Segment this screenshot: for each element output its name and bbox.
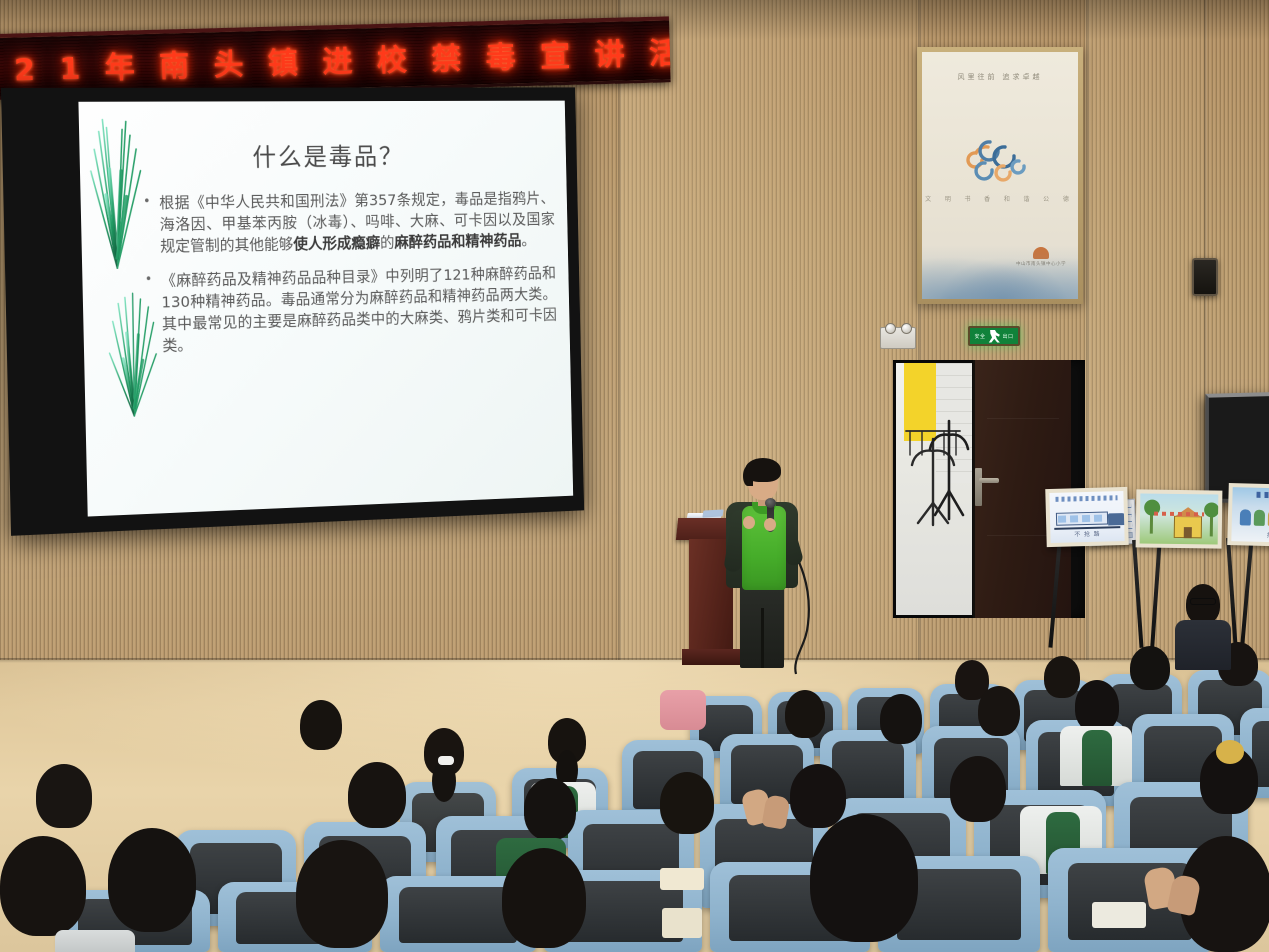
poster-surface: 风里往前 追求卓越 文 明 书 香 和 谐 公 德 中山市南头镇中心小: [922, 52, 1078, 299]
student-head-foreground: [108, 828, 196, 932]
framed-wall-poster: 风里往前 追求卓越 文 明 书 香 和 谐 公 德 中山市南头镇中心小: [917, 47, 1083, 304]
hair-tie: [1216, 740, 1244, 764]
student-head: [660, 772, 714, 834]
student-head-foreground: [502, 848, 586, 948]
slide-bullet-item: • 根据《中华人民共和国刑法》第357条规定，毒品是指鸦片、海洛因、甲基苯丙胺（…: [143, 188, 556, 258]
student-head: [300, 700, 342, 750]
artwork-window: [1082, 515, 1090, 522]
student-ponytail: [432, 760, 456, 802]
door-handle-icon[interactable]: [979, 478, 999, 483]
student-head: [785, 690, 825, 738]
teacher-torso: [1175, 620, 1231, 670]
presenter-hand-holding-mic: [764, 518, 776, 531]
bullet-text: 根据《中华人民共和国刑法》第357条规定，毒品是指鸦片、海洛因、甲基苯丙胺（冰毒…: [159, 188, 555, 257]
student-audience: [0, 600, 1269, 952]
bullet-segment-bold: 使人形成瘾癖: [293, 234, 380, 253]
student-head: [348, 762, 406, 828]
artwork-window: [1094, 515, 1102, 522]
artwork-title-strokes: [1256, 492, 1269, 499]
slide-bullet-list: • 根据《中华人民共和国刑法》第357条规定，毒品是指鸦片、海洛因、甲基苯丙胺（…: [143, 188, 558, 370]
student-head: [950, 756, 1006, 822]
student-head-foreground: [296, 840, 388, 948]
slide-surface: 什么是毒品？ • 根据《中华人民共和国刑法》第357条规定，毒品是指鸦片、海洛因…: [78, 101, 573, 517]
student-head: [524, 778, 576, 840]
wall-seam: [618, 0, 621, 700]
led-banner-text: 2 0 2 1 年 南 头 镇 进 校 禁 毒 宣 讲 活 动: [0, 26, 671, 91]
student-head: [1044, 656, 1080, 698]
student-head: [978, 686, 1020, 736]
door-lock-plate: [975, 468, 982, 506]
emergency-lamp-icon: [901, 323, 912, 334]
artwork-canvas: [1140, 493, 1219, 544]
student-head: [1075, 680, 1119, 732]
artwork-door: [1184, 527, 1192, 538]
armrest-item: [662, 908, 702, 938]
student-head: [790, 764, 846, 828]
exit-sign-right-text: 出口: [1003, 333, 1014, 340]
microphone-head-icon: [765, 498, 776, 508]
bullet-segment: 。: [521, 232, 535, 249]
microphone-stand-icon: [925, 415, 973, 527]
student-head-foreground: [0, 836, 86, 936]
running-person-icon: [988, 330, 1001, 343]
student-uniform-green-panel: [1082, 730, 1112, 786]
presenter-gesturing-hand: [743, 516, 755, 529]
slide-bullet-item: • 《麻醉药品及精神药品品种目录》中列明了121种麻醉药品和130种精神药品。毒…: [145, 263, 558, 358]
hair-bow: [438, 756, 454, 765]
artwork-house-landscape: [1136, 489, 1223, 548]
artwork-traffic-safety: 不 抢 路: [1045, 487, 1128, 547]
student-head: [36, 764, 92, 828]
student-head: [1130, 646, 1170, 690]
exit-sign-left-text: 安全: [974, 333, 985, 340]
artwork-canvas: 拒绝 毒品: [1231, 487, 1269, 543]
student-head: [880, 694, 922, 744]
bullet-marker: •: [145, 270, 154, 357]
student-uniform: [55, 930, 135, 952]
projection-screen: 什么是毒品？ • 根据《中华人民共和国刑法》第357条规定，毒品是指鸦片、海洛因…: [1, 87, 584, 535]
artwork-top-caption-strokes: [1055, 495, 1117, 502]
student-pink-sweater: [660, 690, 706, 730]
bullet-text: 《麻醉药品及精神药品品种目录》中列明了121种麻醉药品和130种精神药品。毒品通…: [161, 263, 558, 357]
armrest-item: [660, 868, 704, 890]
bullet-segment-bold: 麻醉药品和精神药品: [394, 232, 521, 251]
student-head-foreground: [810, 814, 918, 942]
emergency-light-fixture: [880, 327, 916, 349]
seat-pad: [399, 887, 518, 943]
poster-wave-pattern: [922, 245, 1078, 299]
emergency-lamp-icon: [885, 323, 896, 334]
artwork-figure: [1254, 510, 1265, 526]
artwork-window: [1058, 516, 1066, 523]
artwork-caption: 不 抢 路: [1050, 528, 1124, 539]
emergency-exit-sign: 安全 出口: [968, 326, 1020, 346]
wall-mounted-speaker: [1192, 258, 1218, 296]
artwork-canvas: 不 抢 路: [1049, 491, 1124, 543]
artwork-car: [1108, 513, 1125, 525]
poster-subheading: 文 明 书 香 和 谐 公 德: [922, 194, 1078, 203]
cloud-emblem-icon: [964, 130, 1036, 191]
glasses-icon: [1190, 598, 1216, 605]
armrest-item: [1092, 902, 1146, 928]
presenter-hair-side: [743, 466, 753, 486]
artwork-anti-drug-figures: 拒绝 毒品: [1227, 483, 1269, 547]
artwork-window: [1070, 515, 1078, 522]
artwork-caption-strokes: [1154, 512, 1204, 517]
slide-title: 什么是毒品？: [79, 137, 566, 176]
artwork-figure: [1240, 509, 1251, 525]
poster-heading: 风里往前 追求卓越: [922, 72, 1078, 82]
auditorium-photo-scene: 2 0 2 1 年 南 头 镇 进 校 禁 毒 宣 讲 活 动: [0, 0, 1269, 952]
artwork-tree-top: [1204, 502, 1218, 517]
bullet-segment: 的: [380, 234, 395, 252]
bullet-marker: •: [143, 192, 152, 257]
